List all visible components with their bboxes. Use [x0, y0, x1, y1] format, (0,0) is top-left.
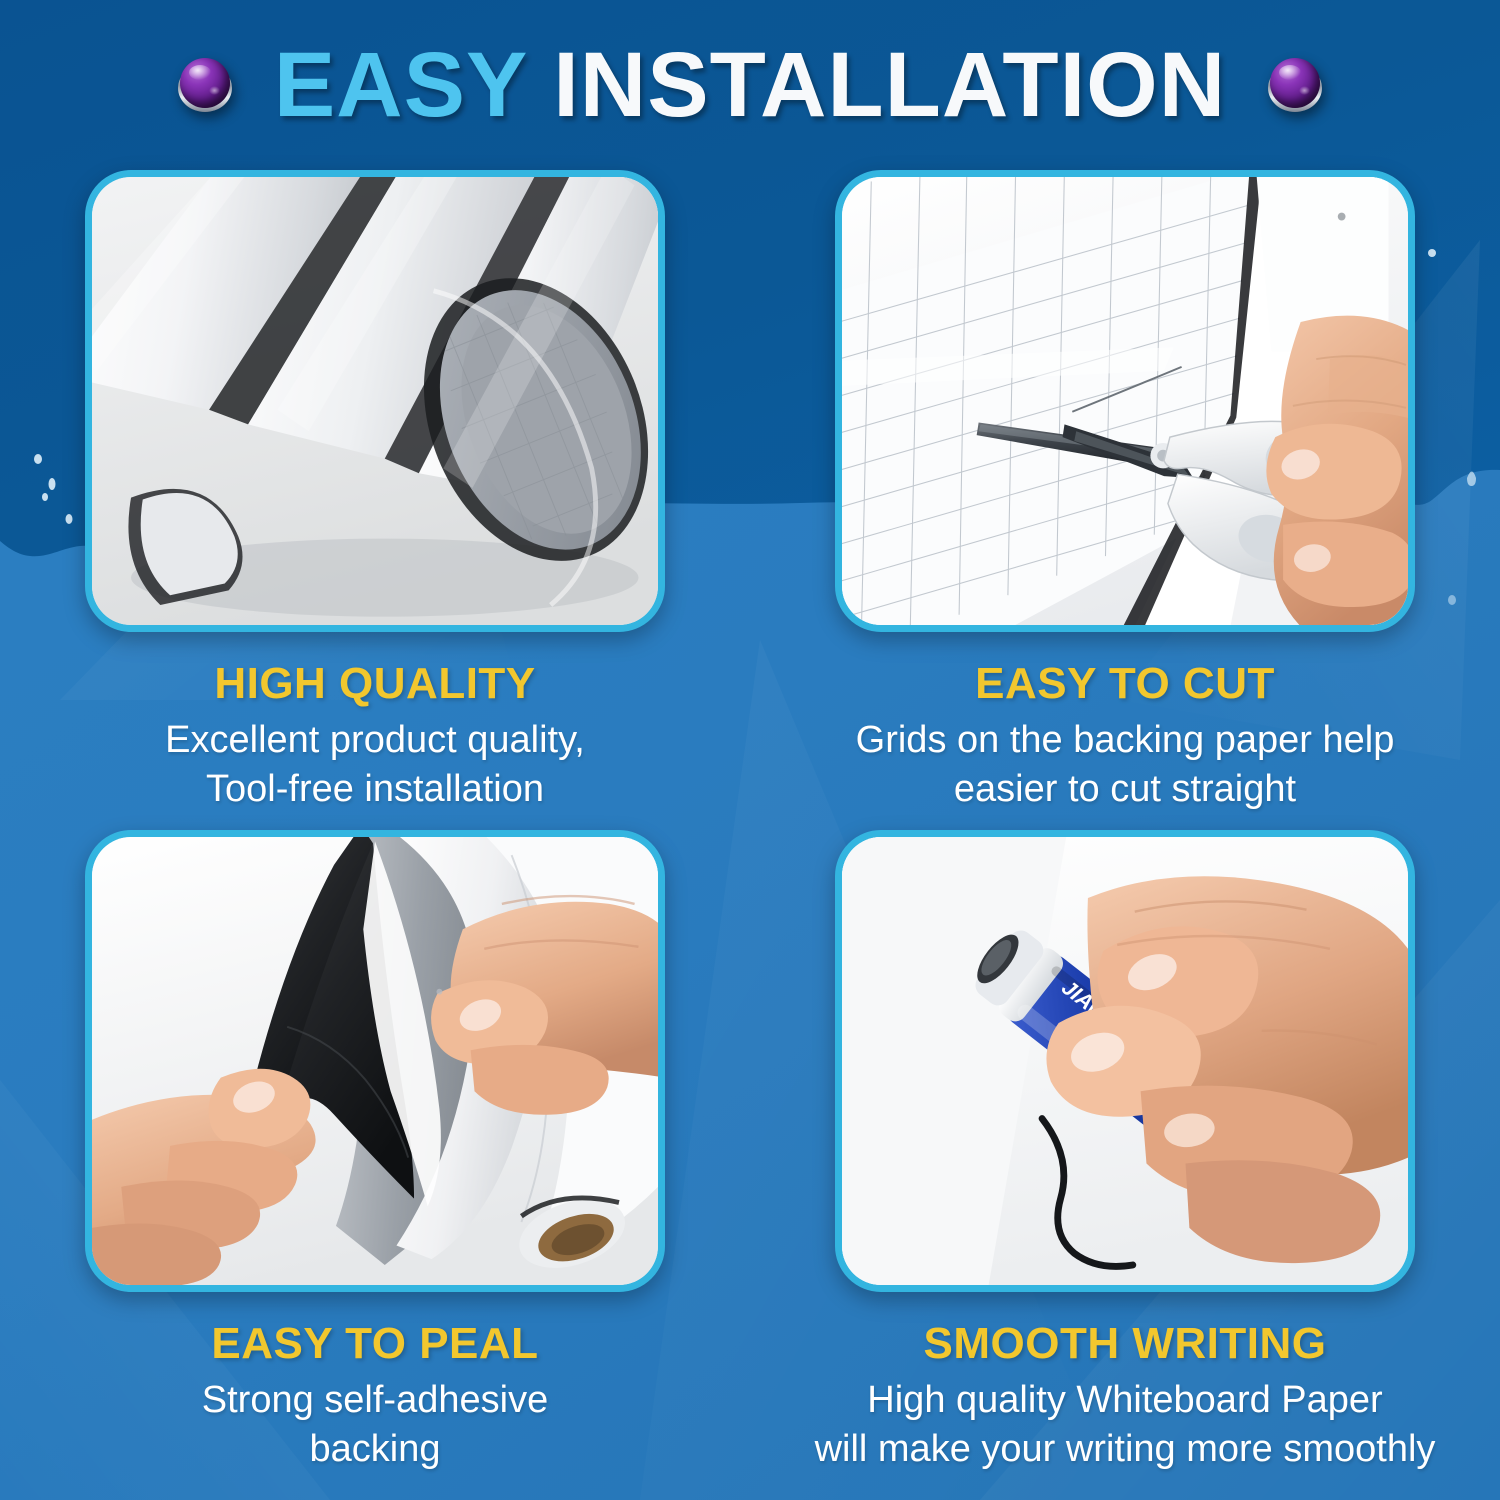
photo-panel-smooth-writing: JIAWEI JW-528 NO.1 [835, 830, 1415, 1292]
photo-panel-easy-to-cut [835, 170, 1415, 632]
cell-caption-smooth-writing: SMOOTH WRITING High quality Whiteboard P… [750, 1310, 1500, 1500]
photo-marker-writing: JIAWEI JW-528 NO.1 [842, 837, 1408, 1285]
cell-caption-easy-to-peal: EASY TO PEAL Strong self-adhesive backin… [0, 1310, 750, 1500]
cell-photo-smooth-writing: JIAWEI JW-528 NO.1 [750, 830, 1500, 1310]
cell-photo-easy-to-cut [750, 170, 1500, 650]
caption-body-easy-to-peal: Strong self-adhesive backing [40, 1376, 710, 1475]
page-header: EASY INSTALLATION [0, 0, 1500, 170]
caption-body-easy-to-cut: Grids on the backing paper help easier t… [790, 716, 1460, 815]
caption-heading-high-quality: HIGH QUALITY [40, 660, 710, 708]
cell-caption-high-quality: HIGH QUALITY Excellent product quality, … [0, 650, 750, 830]
caption-heading-easy-to-cut: EASY TO CUT [790, 660, 1460, 708]
caption-heading-easy-to-peal: EASY TO PEAL [40, 1320, 710, 1368]
caption-body-high-quality: Excellent product quality, Tool-free ins… [40, 716, 710, 815]
photo-panel-high-quality [85, 170, 665, 632]
photo-panel-easy-to-peal [85, 830, 665, 1292]
photo-peeling-backing [92, 837, 658, 1285]
caption-body-smooth-writing: High quality Whiteboard Paper will make … [790, 1376, 1460, 1475]
caption-heading-smooth-writing: SMOOTH WRITING [790, 1320, 1460, 1368]
cell-caption-easy-to-cut: EASY TO CUT Grids on the backing paper h… [750, 650, 1500, 830]
title-accent-word: EASY [274, 34, 527, 136]
title-main-word: INSTALLATION [553, 34, 1226, 136]
photo-rolled-sheet [92, 177, 658, 625]
magnet-pin-right-icon [1268, 58, 1322, 112]
cell-photo-high-quality [0, 170, 750, 650]
magnet-pin-left-icon [178, 58, 232, 112]
cell-photo-easy-to-peal [0, 830, 750, 1310]
page-title: EASY INSTALLATION [274, 39, 1226, 131]
photo-scissors-cutting [842, 177, 1408, 625]
feature-grid: HIGH QUALITY Excellent product quality, … [0, 170, 1500, 1500]
